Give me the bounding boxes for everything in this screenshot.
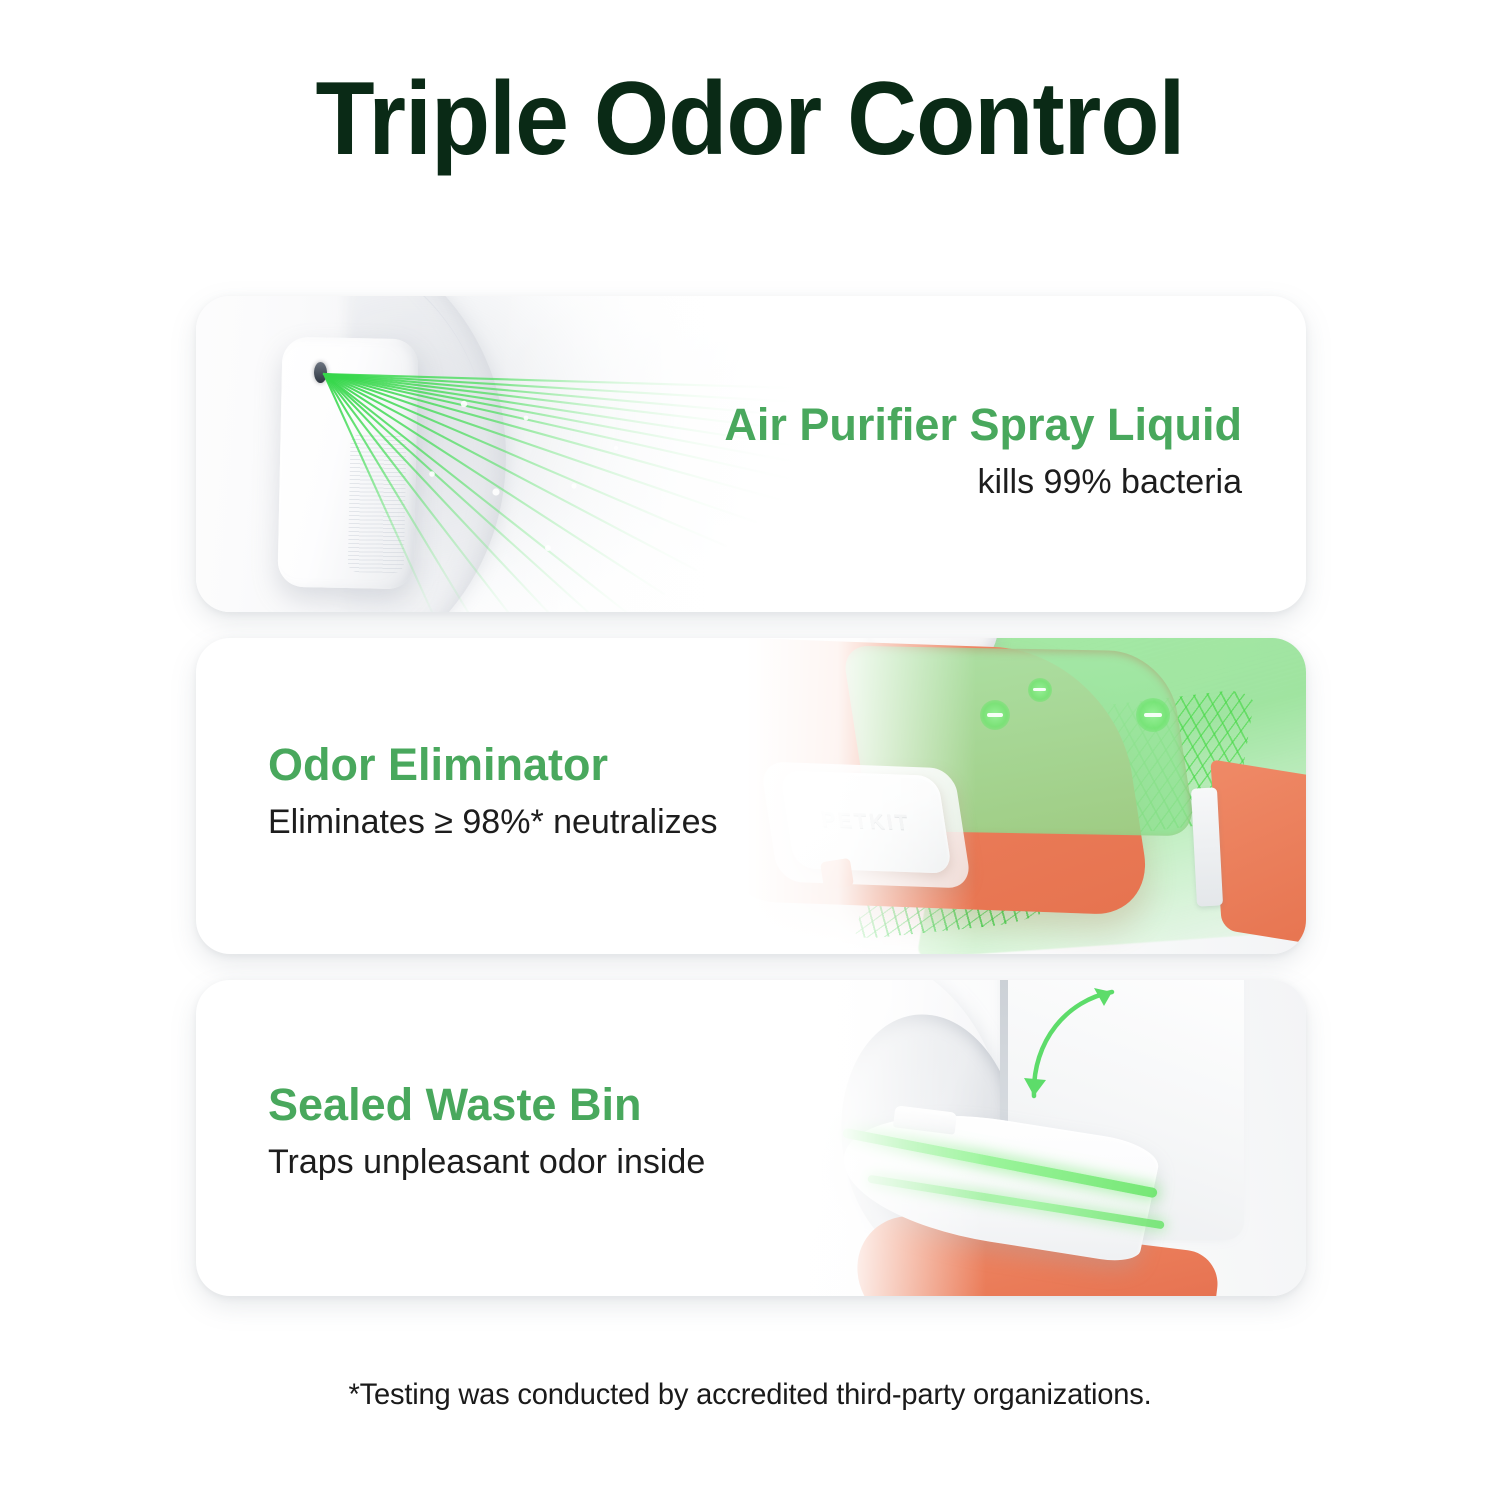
image-fade-overlay [746, 638, 976, 954]
image-fade-overlay [746, 980, 986, 1296]
feature-title-sealed-waste-bin: Sealed Waste Bin [268, 1080, 705, 1130]
feature-subtitle-odor-eliminator: Eliminates ≥ 98%* neutralizes [268, 802, 718, 843]
feature-card-sealed-waste-bin: Sealed Waste Bin Traps unpleasant odor i… [196, 980, 1306, 1296]
infographic-page: Triple Odor Control [0, 0, 1500, 1500]
air-purifier-spray-text-block: Air Purifier Spray Liquid kills 99% bact… [724, 400, 1242, 503]
ion-glow-dot [1028, 678, 1052, 702]
feature-subtitle-air-purifier-spray-liquid: kills 99% bacteria [724, 462, 1242, 503]
ion-glow-dot [980, 700, 1010, 730]
feature-card-list: Air Purifier Spray Liquid kills 99% bact… [196, 296, 1306, 1296]
cartridge-grill-texture [348, 434, 407, 573]
odor-eliminator-image: PETKIT [746, 638, 1306, 954]
feature-subtitle-sealed-waste-bin: Traps unpleasant odor inside [268, 1142, 705, 1183]
footnote-disclaimer: *Testing was conducted by accredited thi… [23, 1378, 1478, 1412]
ion-glow-dot [1136, 698, 1170, 732]
seal-motion-arrow-icon [976, 980, 1156, 1144]
feature-title-air-purifier-spray-liquid: Air Purifier Spray Liquid [724, 400, 1242, 450]
sealed-waste-bin-image [746, 980, 1306, 1296]
sealed-waste-bin-text-block: Sealed Waste Bin Traps unpleasant odor i… [268, 1080, 705, 1183]
odor-eliminator-text-block: Odor Eliminator Eliminates ≥ 98%* neutra… [268, 740, 718, 843]
spray-cartridge [277, 337, 418, 590]
page-title: Triple Odor Control [53, 62, 1448, 176]
spray-nozzle [314, 362, 327, 383]
feature-card-air-purifier-spray-liquid: Air Purifier Spray Liquid kills 99% bact… [196, 296, 1306, 612]
feature-title-odor-eliminator: Odor Eliminator [268, 740, 718, 790]
feature-card-odor-eliminator: Odor Eliminator Eliminates ≥ 98%* neutra… [196, 638, 1306, 954]
air-purifier-spray-image [196, 296, 796, 612]
orange-tray-side-wall [1210, 759, 1306, 949]
